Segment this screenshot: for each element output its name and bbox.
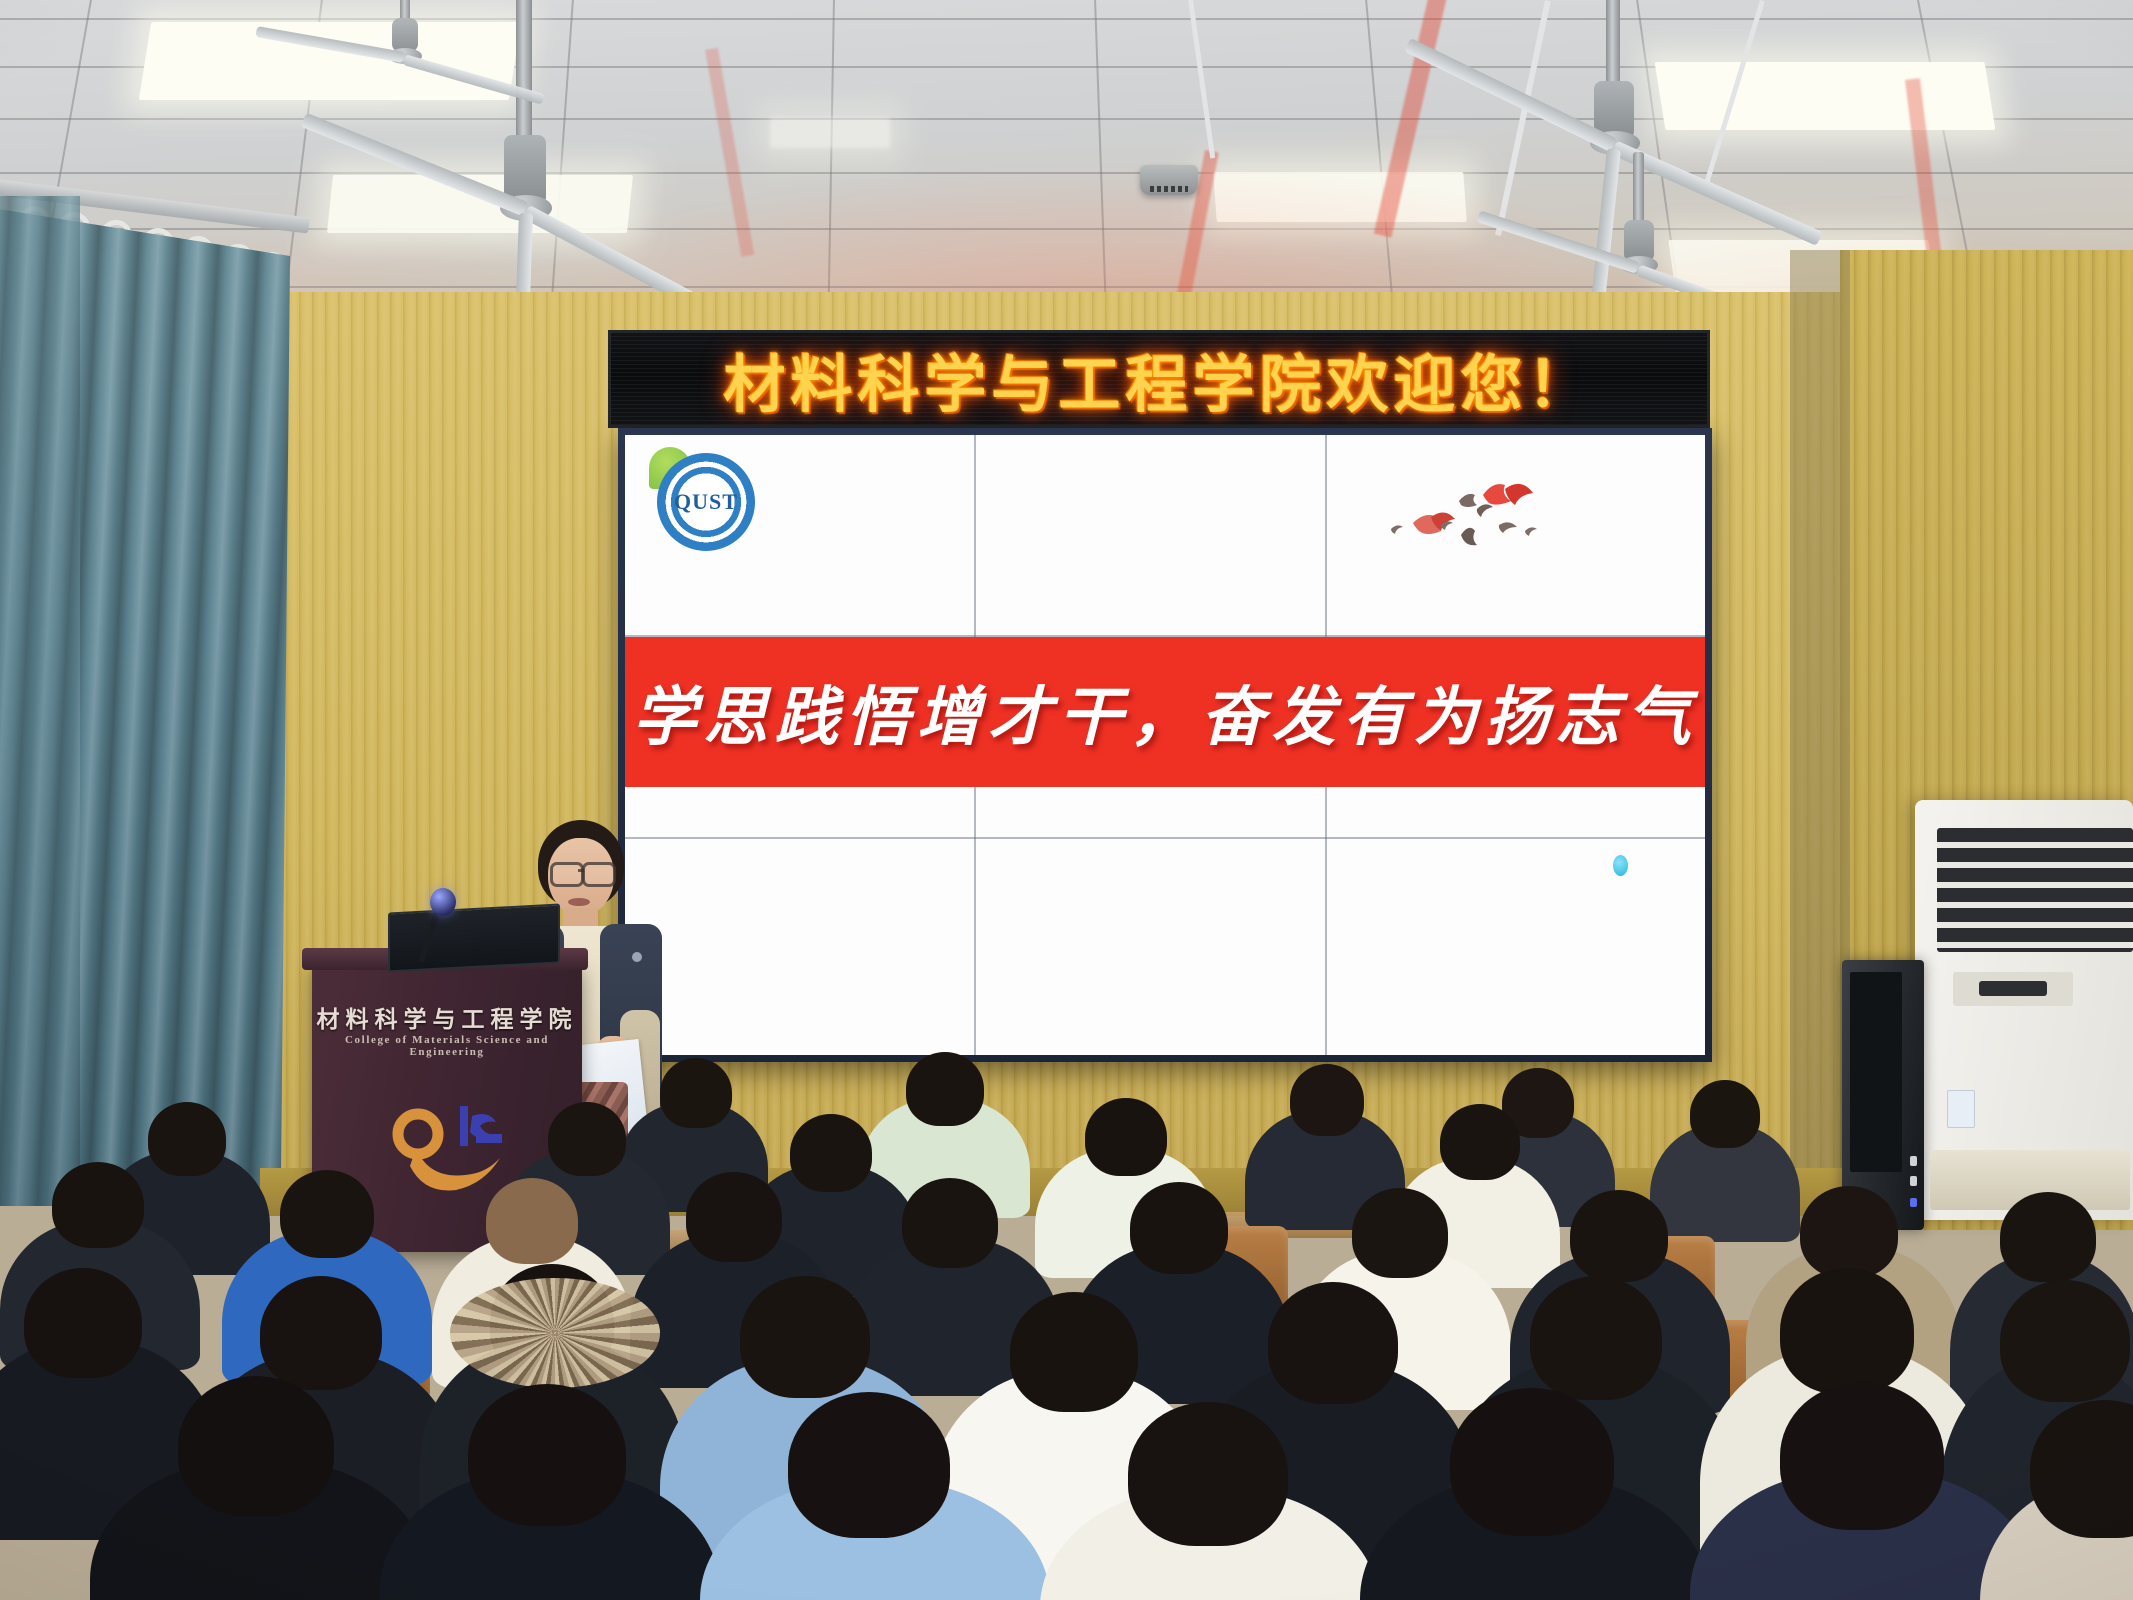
podium-laptop[interactable] <box>388 903 560 972</box>
audience-person <box>52 1162 144 1248</box>
audience-person <box>1268 1282 1398 1404</box>
university-logo-icon: QUST <box>657 453 755 551</box>
audience-person <box>1290 1064 1364 1136</box>
speaker-mouth <box>568 898 590 906</box>
ac-display-panel[interactable] <box>1953 972 2073 1006</box>
audience-person <box>686 1172 782 1262</box>
microphone-icon <box>430 888 456 916</box>
audience-person <box>2000 1280 2130 1402</box>
audience-person <box>548 1102 626 1176</box>
screen-indicator-dot <box>1613 855 1628 876</box>
led-welcome-banner: 材料科学与工程学院欢迎您！ <box>608 330 1710 428</box>
audience-person <box>1010 1292 1138 1412</box>
glasses-icon <box>550 862 584 887</box>
audience-person <box>1570 1190 1668 1282</box>
audience-person <box>740 1276 870 1398</box>
audience-person <box>1440 1104 1520 1180</box>
audience-person <box>486 1178 578 1264</box>
university-logo-text: QUST <box>674 489 738 515</box>
podium-chinese-label: 材料科学与工程学院 <box>312 1000 582 1034</box>
audience <box>0 1040 2133 1600</box>
audience-person <box>1128 1402 1288 1546</box>
slogan-band: 学思践悟增才干，奋发有为扬志气 <box>625 637 1705 787</box>
audience-person <box>24 1268 142 1378</box>
audience-person <box>1352 1188 1448 1278</box>
audience-person <box>1450 1388 1614 1536</box>
smoke-detector-icon <box>1140 165 1198 195</box>
ac-grille <box>1937 828 2133 952</box>
led-banner-text: 材料科学与工程学院欢迎您！ <box>723 334 1594 424</box>
audience-person <box>178 1376 334 1516</box>
presentation-screen[interactable]: QUST 学思践悟增才干，奋发有为扬志气 <box>625 435 1705 1055</box>
audience-person <box>148 1102 226 1176</box>
slogan-text: 学思践悟增才干，奋发有为扬志气 <box>633 666 1698 758</box>
audience-person <box>2000 1192 2096 1282</box>
lecture-hall-photo: 材料科学与工程学院欢迎您！ QUST <box>0 0 2133 1600</box>
audience-person <box>1085 1098 1167 1176</box>
audience-person <box>660 1058 732 1128</box>
audience-person <box>1690 1080 1760 1148</box>
audience-person <box>788 1392 950 1538</box>
vest-zipper <box>632 952 642 962</box>
glasses-icon <box>582 862 616 887</box>
audience-person <box>468 1384 626 1526</box>
audience-person <box>1130 1182 1228 1274</box>
audience-person <box>1800 1186 1898 1278</box>
screen-seam <box>625 837 1705 839</box>
audience-person <box>1530 1276 1662 1400</box>
audience-person <box>260 1276 382 1390</box>
audience-person <box>1780 1382 1944 1530</box>
audience-person <box>902 1178 998 1268</box>
glasses-bridge <box>578 869 584 872</box>
flying-birds-icon <box>1365 467 1565 577</box>
audience-person <box>790 1114 872 1192</box>
audience-person <box>1780 1268 1914 1394</box>
fur-hood <box>450 1278 660 1388</box>
audience-person <box>280 1170 374 1258</box>
audience-person <box>906 1052 984 1126</box>
presentation-screen-frame: QUST 学思践悟增才干，奋发有为扬志气 <box>618 428 1712 1062</box>
